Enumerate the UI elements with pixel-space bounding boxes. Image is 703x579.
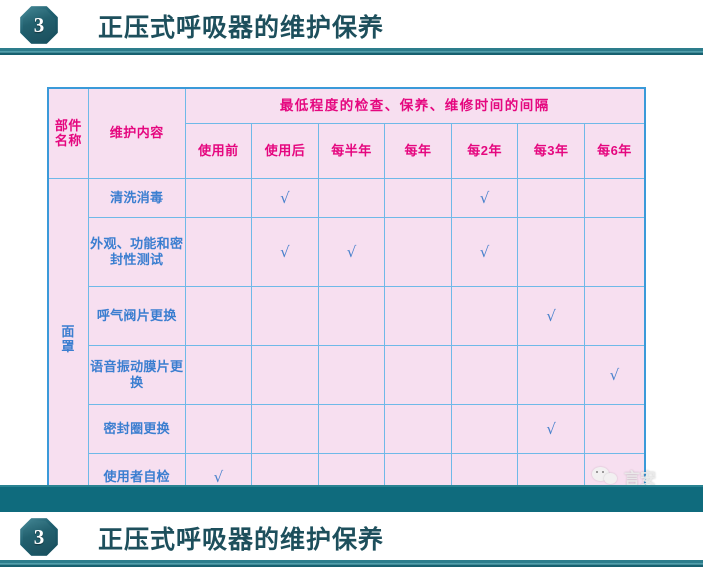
section-number-badge: 3: [20, 518, 58, 556]
header-interval-yearly: 每年: [385, 124, 452, 179]
row-group-part-name-char-1: 面: [50, 325, 87, 340]
cell-mark: [318, 179, 385, 218]
table-row: 呼气阀片更换 √: [48, 287, 645, 346]
section-number-badge: 3: [20, 6, 58, 44]
header-interval-2-years: 每2年: [451, 124, 518, 179]
slide-title-bar-bottom: 3 正压式呼吸器的维护保养: [0, 512, 703, 558]
slide-top: 3 正压式呼吸器的维护保养 部件名称 维护内容 最低程度的检查、保养、维修时间的…: [0, 0, 703, 485]
cell-mark: √: [584, 346, 645, 405]
slide-bottom: 3 正压式呼吸器的维护保养: [0, 512, 703, 579]
row-item-label: 清洗消毒: [88, 179, 185, 218]
title-underline-rule: [0, 48, 703, 55]
cell-mark: [584, 405, 645, 454]
cell-mark: √: [252, 218, 319, 287]
table-row: 面 罩 清洗消毒 √ √: [48, 179, 645, 218]
row-item-label: 外观、功能和密封性测试: [88, 218, 185, 287]
table-row: 密封圈更换 √: [48, 405, 645, 454]
row-item-label: 语音振动膜片更换: [88, 346, 185, 405]
cell-mark: [518, 179, 585, 218]
header-interval-group: 最低程度的检查、保养、维修时间的间隔: [185, 88, 645, 124]
cell-mark: [185, 405, 252, 454]
cell-mark: [584, 287, 645, 346]
row-group-part-name-char-2: 罩: [50, 340, 87, 355]
title-underline-rule: [0, 560, 703, 567]
cell-mark: [584, 218, 645, 287]
maintenance-table-container: 部件名称 维护内容 最低程度的检查、保养、维修时间的间隔 使用前 使用后 每半年…: [47, 87, 646, 502]
header-interval-3-years: 每3年: [518, 124, 585, 179]
teal-divider-band: [0, 485, 703, 514]
cell-mark: √: [252, 179, 319, 218]
table-row: 语音振动膜片更换 √: [48, 346, 645, 405]
section-number: 3: [34, 527, 45, 548]
page-title: 正压式呼吸器的维护保养: [98, 520, 384, 556]
cell-mark: √: [318, 218, 385, 287]
cell-mark: [451, 405, 518, 454]
cell-mark: [318, 346, 385, 405]
wechat-icon-bubble-small: [604, 473, 617, 484]
section-number-badge-inner: 3: [23, 9, 55, 41]
cell-mark: [451, 346, 518, 405]
cell-mark: √: [518, 287, 585, 346]
header-interval-after-use: 使用后: [252, 124, 319, 179]
row-item-label: 呼气阀片更换: [88, 287, 185, 346]
wechat-icon-eye-right: [602, 471, 604, 473]
table-header-row-group: 部件名称 维护内容 最低程度的检查、保养、维修时间的间隔: [48, 88, 645, 124]
cell-mark: [385, 346, 452, 405]
row-item-label: 密封圈更换: [88, 405, 185, 454]
cell-mark: [318, 287, 385, 346]
header-interval-half-year: 每半年: [318, 124, 385, 179]
cell-mark: [185, 287, 252, 346]
header-interval-6-years: 每6年: [584, 124, 645, 179]
cell-mark: [252, 287, 319, 346]
cell-mark: [518, 218, 585, 287]
cell-mark: √: [518, 405, 585, 454]
cell-mark: [584, 179, 645, 218]
table-row: 外观、功能和密封性测试 √ √ √: [48, 218, 645, 287]
cell-mark: √: [451, 179, 518, 218]
page-title: 正压式呼吸器的维护保养: [98, 8, 384, 44]
cell-mark: [185, 346, 252, 405]
cell-mark: [318, 405, 385, 454]
cell-mark: [185, 179, 252, 218]
row-group-part-name: 面 罩: [48, 179, 88, 502]
cell-mark: [518, 346, 585, 405]
cell-mark: [252, 405, 319, 454]
cell-mark: √: [451, 218, 518, 287]
header-maint-content: 维护内容: [88, 88, 185, 179]
cell-mark: [385, 405, 452, 454]
cell-mark: [185, 218, 252, 287]
section-number-badge-inner: 3: [23, 521, 55, 553]
header-part-name: 部件名称: [48, 88, 88, 179]
cell-mark: [451, 287, 518, 346]
header-interval-before-use: 使用前: [185, 124, 252, 179]
cell-mark: [385, 179, 452, 218]
slide-title-bar: 3 正压式呼吸器的维护保养: [0, 0, 703, 46]
cell-mark: [385, 287, 452, 346]
maintenance-table: 部件名称 维护内容 最低程度的检查、保养、维修时间的间隔 使用前 使用后 每半年…: [47, 87, 646, 502]
cell-mark: [252, 346, 319, 405]
wechat-icon-eye-left: [596, 471, 598, 473]
section-number: 3: [34, 15, 45, 36]
cell-mark: [385, 218, 452, 287]
